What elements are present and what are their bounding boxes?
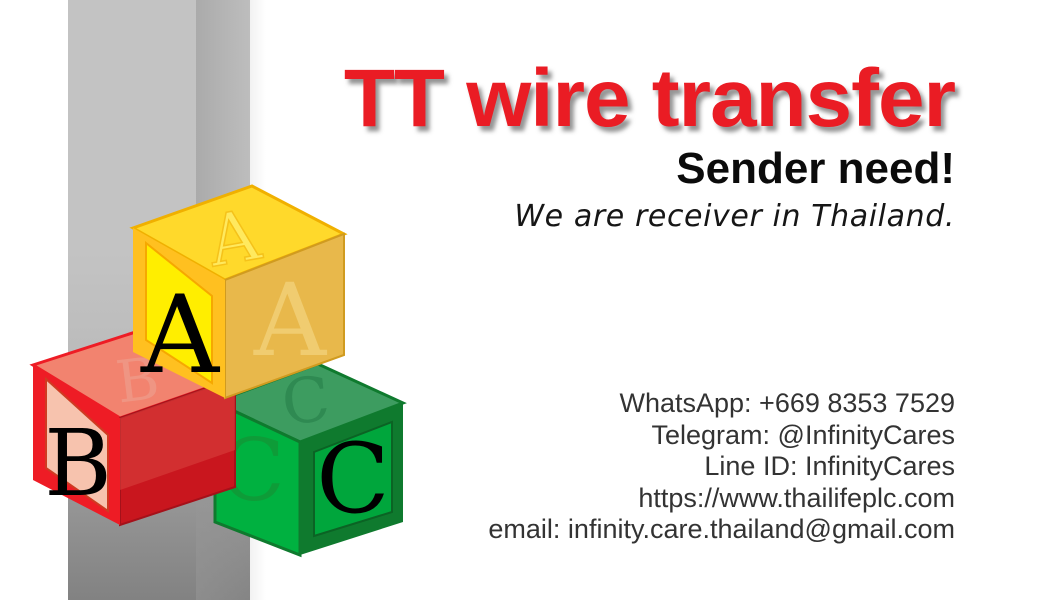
- contact-line-email: email: infinity.care.thailand@gmail.com: [0, 514, 955, 546]
- contact-line-line-id: Line ID: InfinityCares: [0, 451, 955, 483]
- contact-line-whatsapp: WhatsApp: +669 8353 7529: [0, 388, 955, 420]
- flyer-canvas: C C C B B: [0, 0, 1063, 600]
- tagline: We are receiver in Thailand.: [0, 202, 955, 232]
- contact-line-telegram: Telegram: @InfinityCares: [0, 420, 955, 452]
- svg-text:A: A: [140, 273, 221, 398]
- contact-line-website: https://www.thailifeplc.com: [0, 483, 955, 515]
- page-title: TT wire transfer: [0, 58, 955, 140]
- subtitle: Sender need!: [0, 147, 955, 191]
- svg-text:A: A: [253, 262, 328, 379]
- contact-details: WhatsApp: +669 8353 7529 Telegram: @Infi…: [0, 388, 955, 546]
